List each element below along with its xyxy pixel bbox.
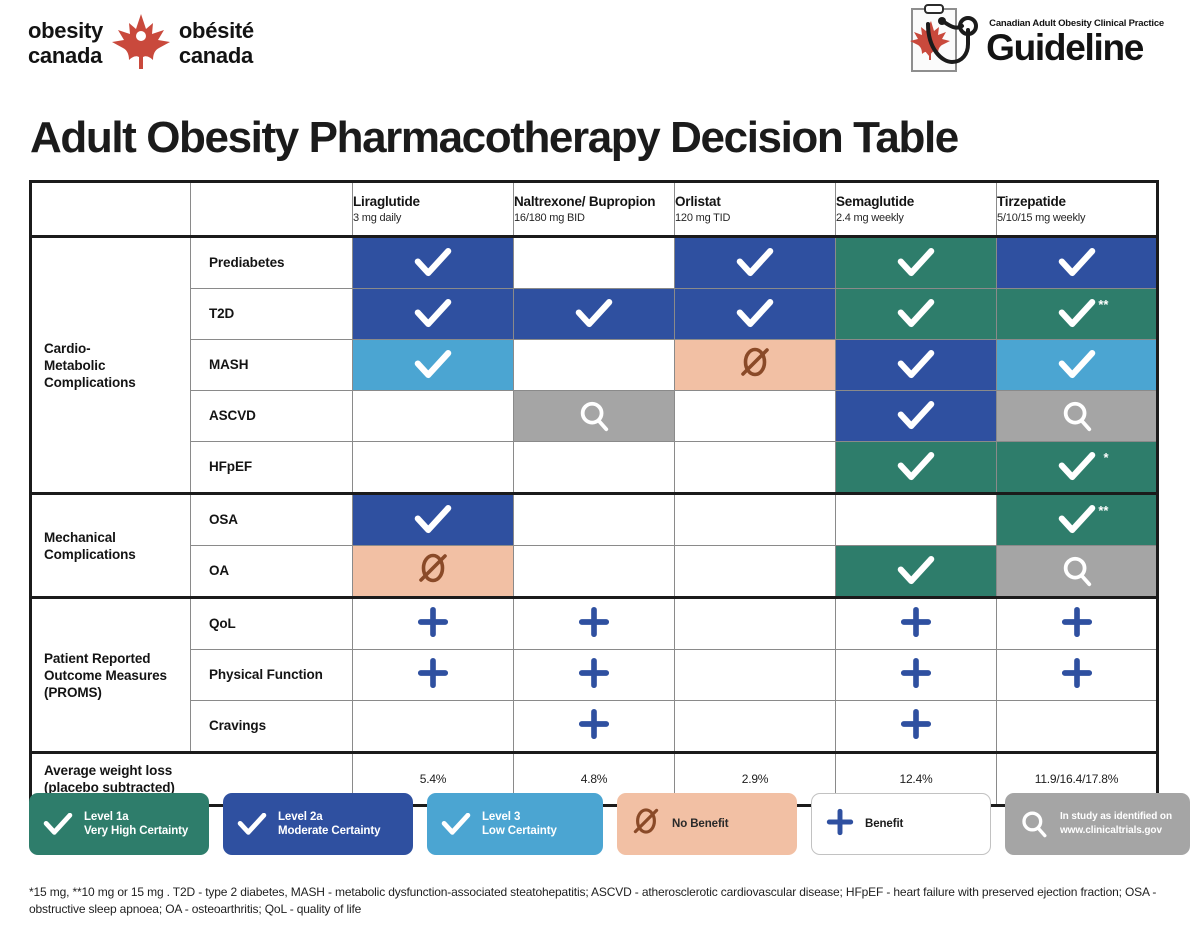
plus-icon-wrap <box>417 657 449 694</box>
row-label-0-3: ASCVD <box>191 391 353 442</box>
cell-hfpef-liraglutide <box>353 442 514 494</box>
cell-cravings-tirzepatide <box>997 701 1158 753</box>
oc-en-line2: canada <box>28 43 103 68</box>
legend-line2: Low Certainty <box>482 824 557 838</box>
check-icon-wrap <box>897 350 935 380</box>
check-icon <box>736 248 774 278</box>
cell-oa-naltrexone-bupropion <box>514 546 675 598</box>
plus-icon-wrap <box>578 657 610 694</box>
legend-item-1[interactable]: Level 1aVery High Certainty <box>29 793 209 855</box>
check-icon-wrap <box>897 299 935 329</box>
table-row: OA <box>31 546 1158 598</box>
plus-icon <box>826 808 854 841</box>
row-label-text: Prediabetes <box>191 249 352 277</box>
magnifier-icon <box>1019 809 1049 839</box>
cell-content <box>836 340 996 390</box>
check-icon <box>897 248 935 278</box>
plus-icon <box>578 606 610 643</box>
cell-content <box>514 238 674 288</box>
check-icon <box>1058 452 1096 482</box>
cell-osa-naltrexone-bupropion <box>514 494 675 546</box>
table-row: T2D** <box>31 289 1158 340</box>
table-row: Physical Function <box>31 650 1158 701</box>
row-label-text: HFpEF <box>191 453 352 481</box>
cell-content <box>675 650 835 700</box>
obesity-canada-english-wordmark: obesity canada <box>28 18 103 68</box>
cell-cravings-orlistat <box>675 701 836 753</box>
check-icon <box>575 299 613 329</box>
cell-content <box>675 546 835 596</box>
table-row: MechanicalComplicationsOSA** <box>31 494 1158 546</box>
cell-content <box>514 442 674 492</box>
no-benefit-icon <box>416 551 450 591</box>
decision-table: Liraglutide3 mg dailyNaltrexone/ Bupropi… <box>29 180 1159 807</box>
cell-mash-tirzepatide <box>997 340 1158 391</box>
row-label-text: Physical Function <box>191 661 352 689</box>
cell-content <box>353 238 513 288</box>
check-icon <box>237 813 267 836</box>
cell-content <box>353 701 513 751</box>
cell-content <box>836 391 996 441</box>
check-icon-wrap <box>575 299 613 329</box>
check-icon-wrap <box>1058 248 1096 278</box>
group-label-1: MechanicalComplications <box>31 494 191 598</box>
cell-content <box>353 599 513 649</box>
drug-dose: 5/10/15 mg weekly <box>997 212 1156 225</box>
check-icon <box>1058 350 1096 380</box>
check-icon <box>237 813 267 836</box>
cell-content <box>836 442 996 492</box>
group-label-0: Cardio-MetabolicComplications <box>31 237 191 494</box>
plus-icon-wrap <box>578 606 610 643</box>
check-icon-wrap <box>414 350 452 380</box>
plus-icon-wrap <box>900 657 932 694</box>
cell-mash-orlistat <box>675 340 836 391</box>
plus-icon <box>1061 606 1093 643</box>
cell-content <box>997 238 1156 288</box>
magnifier-icon-wrap <box>1060 399 1094 433</box>
table-header-row: Liraglutide3 mg dailyNaltrexone/ Bupropi… <box>31 182 1158 237</box>
cell-ascvd-orlistat <box>675 391 836 442</box>
header-corner-row <box>191 182 353 237</box>
check-icon-wrap <box>897 401 935 431</box>
row-label-0-2: MASH <box>191 340 353 391</box>
cell-qol-naltrexone-bupropion <box>514 598 675 650</box>
legend-item-6[interactable]: In study as identified onwww.clinicaltri… <box>1005 793 1190 855</box>
row-label-2-1: Physical Function <box>191 650 353 701</box>
no-benefit-icon <box>738 345 772 385</box>
cell-content <box>675 599 835 649</box>
cell-oa-tirzepatide <box>997 546 1158 598</box>
legend-line2: Moderate Certainty <box>278 824 380 838</box>
plus-icon <box>1061 657 1093 694</box>
cell-content <box>353 391 513 441</box>
cell-oa-orlistat <box>675 546 836 598</box>
cell-oa-liraglutide <box>353 546 514 598</box>
row-label-1-1: OA <box>191 546 353 598</box>
row-label-text: OSA <box>191 506 352 534</box>
cell-content <box>514 340 674 390</box>
check-icon <box>1058 505 1096 535</box>
check-icon-wrap <box>414 299 452 329</box>
drug-header-4: Tirzepatide5/10/15 mg weekly <box>997 182 1158 237</box>
plus-icon <box>900 606 932 643</box>
cell-prediabetes-naltrexone-bupropion <box>514 237 675 289</box>
legend-line1: Benefit <box>865 817 903 831</box>
cell-cravings-liraglutide <box>353 701 514 753</box>
row-label-2-0: QoL <box>191 598 353 650</box>
check-icon-wrap <box>414 248 452 278</box>
cell-qol-tirzepatide <box>997 598 1158 650</box>
cell-hfpef-semaglutide <box>836 442 997 494</box>
cell-content <box>675 495 835 545</box>
cell-content <box>353 340 513 390</box>
legend-line1: Level 1a <box>84 810 188 824</box>
decision-table-container: Liraglutide3 mg dailyNaltrexone/ Bupropi… <box>29 180 1156 807</box>
check-icon-wrap <box>1058 350 1096 380</box>
cell-content <box>514 599 674 649</box>
cell-t2d-semaglutide <box>836 289 997 340</box>
check-icon <box>441 813 471 836</box>
cell-content <box>836 599 996 649</box>
magnifier-icon <box>1060 399 1094 433</box>
cell-oa-semaglutide <box>836 546 997 598</box>
cell-content <box>675 340 835 390</box>
footnote-marker: * <box>1103 451 1108 464</box>
cell-mash-naltrexone-bupropion <box>514 340 675 391</box>
cell-qol-semaglutide <box>836 598 997 650</box>
cell-physical-function-semaglutide <box>836 650 997 701</box>
cell-osa-orlistat <box>675 494 836 546</box>
check-icon-wrap <box>897 248 935 278</box>
legend-text: Level 3Low Certainty <box>482 810 557 838</box>
legend-item-5[interactable]: Benefit <box>811 793 991 855</box>
check-icon <box>897 401 935 431</box>
check-icon-wrap <box>736 248 774 278</box>
legend-line1: Level 3 <box>482 810 557 824</box>
drug-dose: 2.4 mg weekly <box>836 212 996 225</box>
cell-hfpef-naltrexone-bupropion <box>514 442 675 494</box>
footnote-marker: ** <box>1098 504 1108 517</box>
cell-content <box>836 238 996 288</box>
cell-content <box>997 391 1156 441</box>
no-benefit-icon-wrap <box>738 345 772 385</box>
footnote: *15 mg, **10 mg or 15 mg . T2D - type 2 … <box>29 884 1169 918</box>
cell-ascvd-tirzepatide <box>997 391 1158 442</box>
check-icon <box>897 556 935 586</box>
check-icon-wrap <box>414 505 452 535</box>
cell-physical-function-orlistat <box>675 650 836 701</box>
group-label-text: Patient ReportedOutcome Measures(PROMS) <box>32 644 190 707</box>
legend-text: Benefit <box>865 817 903 831</box>
plus-icon-wrap <box>1061 657 1093 694</box>
cell-content <box>836 289 996 339</box>
cell-mash-liraglutide <box>353 340 514 391</box>
check-icon-wrap: ** <box>1058 299 1096 329</box>
no-benefit-icon <box>631 806 661 842</box>
legend-text: In study as identified onwww.clinicaltri… <box>1060 810 1172 838</box>
legend-item-2[interactable]: Level 2aModerate Certainty <box>223 793 413 855</box>
legend-item-3[interactable]: Level 3Low Certainty <box>427 793 603 855</box>
guideline-title: Guideline <box>986 29 1164 66</box>
cell-cravings-naltrexone-bupropion <box>514 701 675 753</box>
plus-icon <box>900 657 932 694</box>
cell-content <box>353 650 513 700</box>
drug-header-1: Naltrexone/ Bupropion16/180 mg BID <box>514 182 675 237</box>
cell-content <box>353 495 513 545</box>
legend-line2: Very High Certainty <box>84 824 188 838</box>
legend-text: No Benefit <box>672 817 729 831</box>
cell-content <box>353 546 513 596</box>
cell-content <box>353 442 513 492</box>
drug-dose: 120 mg TID <box>675 212 835 225</box>
magnifier-icon-wrap <box>577 399 611 433</box>
clipboard-stethoscope-icon <box>898 4 990 84</box>
cell-osa-semaglutide <box>836 494 997 546</box>
cell-content <box>675 442 835 492</box>
cell-content <box>836 701 996 751</box>
drug-name: Liraglutide <box>353 194 513 209</box>
decision-table-body: Liraglutide3 mg dailyNaltrexone/ Bupropi… <box>31 182 1158 806</box>
cell-physical-function-liraglutide <box>353 650 514 701</box>
cell-content <box>836 495 996 545</box>
page-header: obesity canada obésité canada <box>0 0 1200 92</box>
row-label-0-0: Prediabetes <box>191 237 353 289</box>
legend-line2: www.clinicaltrials.gov <box>1060 824 1172 838</box>
cell-qol-orlistat <box>675 598 836 650</box>
drug-header-0: Liraglutide3 mg daily <box>353 182 514 237</box>
plus-icon-wrap <box>578 708 610 745</box>
cell-t2d-tirzepatide: ** <box>997 289 1158 340</box>
cell-qol-liraglutide <box>353 598 514 650</box>
cell-osa-liraglutide <box>353 494 514 546</box>
legend-text: Level 1aVery High Certainty <box>84 810 188 838</box>
plus-icon <box>417 657 449 694</box>
check-icon-wrap <box>897 452 935 482</box>
check-icon <box>43 813 73 836</box>
magnifier-icon <box>1060 554 1094 588</box>
magnifier-icon <box>577 399 611 433</box>
check-icon-wrap <box>897 556 935 586</box>
cell-content: ** <box>997 289 1156 339</box>
table-row: MASH <box>31 340 1158 391</box>
table-row: ASCVD <box>31 391 1158 442</box>
cell-physical-function-naltrexone-bupropion <box>514 650 675 701</box>
cell-t2d-orlistat <box>675 289 836 340</box>
cell-hfpef-tirzepatide: * <box>997 442 1158 494</box>
obesity-canada-logo: obesity canada obésité canada <box>28 12 254 74</box>
oc-en-line1: obesity <box>28 18 103 43</box>
drug-name: Orlistat <box>675 194 835 209</box>
oc-fr-line2: canada <box>179 43 254 68</box>
plus-icon-wrap <box>900 606 932 643</box>
legend: Level 1aVery High CertaintyLevel 2aModer… <box>29 793 1190 855</box>
group-label-2: Patient ReportedOutcome Measures(PROMS) <box>31 598 191 753</box>
drug-name: Tirzepatide <box>997 194 1156 209</box>
cell-prediabetes-orlistat <box>675 237 836 289</box>
oc-fr-line1: obésité <box>179 18 254 43</box>
row-label-0-1: T2D <box>191 289 353 340</box>
plus-icon <box>578 708 610 745</box>
cell-content <box>514 289 674 339</box>
row-label-text: OA <box>191 557 352 585</box>
footnote-marker: ** <box>1098 298 1108 311</box>
table-row: Cardio-MetabolicComplicationsPrediabetes <box>31 237 1158 289</box>
no-benefit-icon-wrap <box>416 551 450 591</box>
table-row: Patient ReportedOutcome Measures(PROMS)Q… <box>31 598 1158 650</box>
magnifier-icon <box>1019 809 1049 839</box>
check-icon <box>736 299 774 329</box>
legend-line1: No Benefit <box>672 817 729 831</box>
check-icon <box>1058 299 1096 329</box>
check-icon <box>897 350 935 380</box>
obesity-canada-french-wordmark: obésité canada <box>179 18 254 68</box>
row-label-text: QoL <box>191 610 352 638</box>
maple-leaf-icon <box>109 12 173 74</box>
drug-name: Naltrexone/ Bupropion <box>514 194 674 209</box>
cell-content <box>675 701 835 751</box>
table-row: Cravings <box>31 701 1158 753</box>
drug-dose: 3 mg daily <box>353 212 513 225</box>
plus-icon-wrap <box>900 708 932 745</box>
page-title: Adult Obesity Pharmacotherapy Decision T… <box>30 112 958 164</box>
magnifier-icon-wrap <box>1060 554 1094 588</box>
drug-header-3: Semaglutide2.4 mg weekly <box>836 182 997 237</box>
plus-icon <box>578 657 610 694</box>
guideline-text: Canadian Adult Obesity Clinical Practice… <box>986 4 1164 66</box>
check-icon <box>1058 248 1096 278</box>
cell-content <box>675 238 835 288</box>
cell-t2d-naltrexone-bupropion <box>514 289 675 340</box>
cell-osa-tirzepatide: ** <box>997 494 1158 546</box>
cell-hfpef-orlistat <box>675 442 836 494</box>
cell-physical-function-tirzepatide <box>997 650 1158 701</box>
legend-line1: Level 2a <box>278 810 380 824</box>
cell-content <box>997 650 1156 700</box>
cell-prediabetes-liraglutide <box>353 237 514 289</box>
drug-header-2: Orlistat120 mg TID <box>675 182 836 237</box>
check-icon-wrap: ** <box>1058 505 1096 535</box>
check-icon <box>414 350 452 380</box>
header-corner-group <box>31 182 191 237</box>
check-icon <box>441 813 471 836</box>
cell-content <box>997 546 1156 596</box>
group-label-text: MechanicalComplications <box>32 523 190 569</box>
cell-content <box>997 701 1156 751</box>
cell-content <box>997 340 1156 390</box>
cell-ascvd-liraglutide <box>353 391 514 442</box>
cell-content <box>514 495 674 545</box>
check-icon <box>897 299 935 329</box>
row-label-text: ASCVD <box>191 402 352 430</box>
cell-ascvd-semaglutide <box>836 391 997 442</box>
drug-dose: 16/180 mg BID <box>514 212 674 225</box>
cell-t2d-liraglutide <box>353 289 514 340</box>
check-icon <box>43 813 73 836</box>
check-icon-wrap <box>736 299 774 329</box>
plus-icon <box>900 708 932 745</box>
row-label-0-4: HFpEF <box>191 442 353 494</box>
legend-text: Level 2aModerate Certainty <box>278 810 380 838</box>
cell-content: ** <box>997 495 1156 545</box>
cell-cravings-semaglutide <box>836 701 997 753</box>
row-label-text: Cravings <box>191 712 352 740</box>
cell-content <box>514 391 674 441</box>
cell-prediabetes-semaglutide <box>836 237 997 289</box>
no-benefit-icon <box>631 806 661 842</box>
check-icon-wrap: * <box>1058 452 1096 482</box>
plus-icon <box>417 606 449 643</box>
cell-content <box>514 650 674 700</box>
check-icon <box>414 248 452 278</box>
legend-line1: In study as identified on <box>1060 810 1172 824</box>
plus-icon-wrap <box>417 606 449 643</box>
cell-content <box>514 701 674 751</box>
row-label-text: MASH <box>191 351 352 379</box>
cell-ascvd-naltrexone-bupropion <box>514 391 675 442</box>
row-label-2-2: Cravings <box>191 701 353 753</box>
check-icon <box>414 299 452 329</box>
row-label-text: T2D <box>191 300 352 328</box>
check-icon <box>897 452 935 482</box>
cell-prediabetes-tirzepatide <box>997 237 1158 289</box>
table-row: HFpEF* <box>31 442 1158 494</box>
cell-content <box>675 391 835 441</box>
row-label-1-0: OSA <box>191 494 353 546</box>
guideline-logo: Canadian Adult Obesity Clinical Practice… <box>898 4 1164 84</box>
drug-name: Semaglutide <box>836 194 996 209</box>
cell-content <box>353 289 513 339</box>
plus-icon <box>826 808 854 841</box>
cell-content <box>997 599 1156 649</box>
cell-content <box>675 289 835 339</box>
check-icon <box>414 505 452 535</box>
cell-content: * <box>997 442 1156 492</box>
cell-content <box>836 546 996 596</box>
plus-icon-wrap <box>1061 606 1093 643</box>
cell-mash-semaglutide <box>836 340 997 391</box>
legend-item-4[interactable]: No Benefit <box>617 793 797 855</box>
cell-content <box>836 650 996 700</box>
cell-content <box>514 546 674 596</box>
group-label-text: Cardio-MetabolicComplications <box>32 334 190 397</box>
